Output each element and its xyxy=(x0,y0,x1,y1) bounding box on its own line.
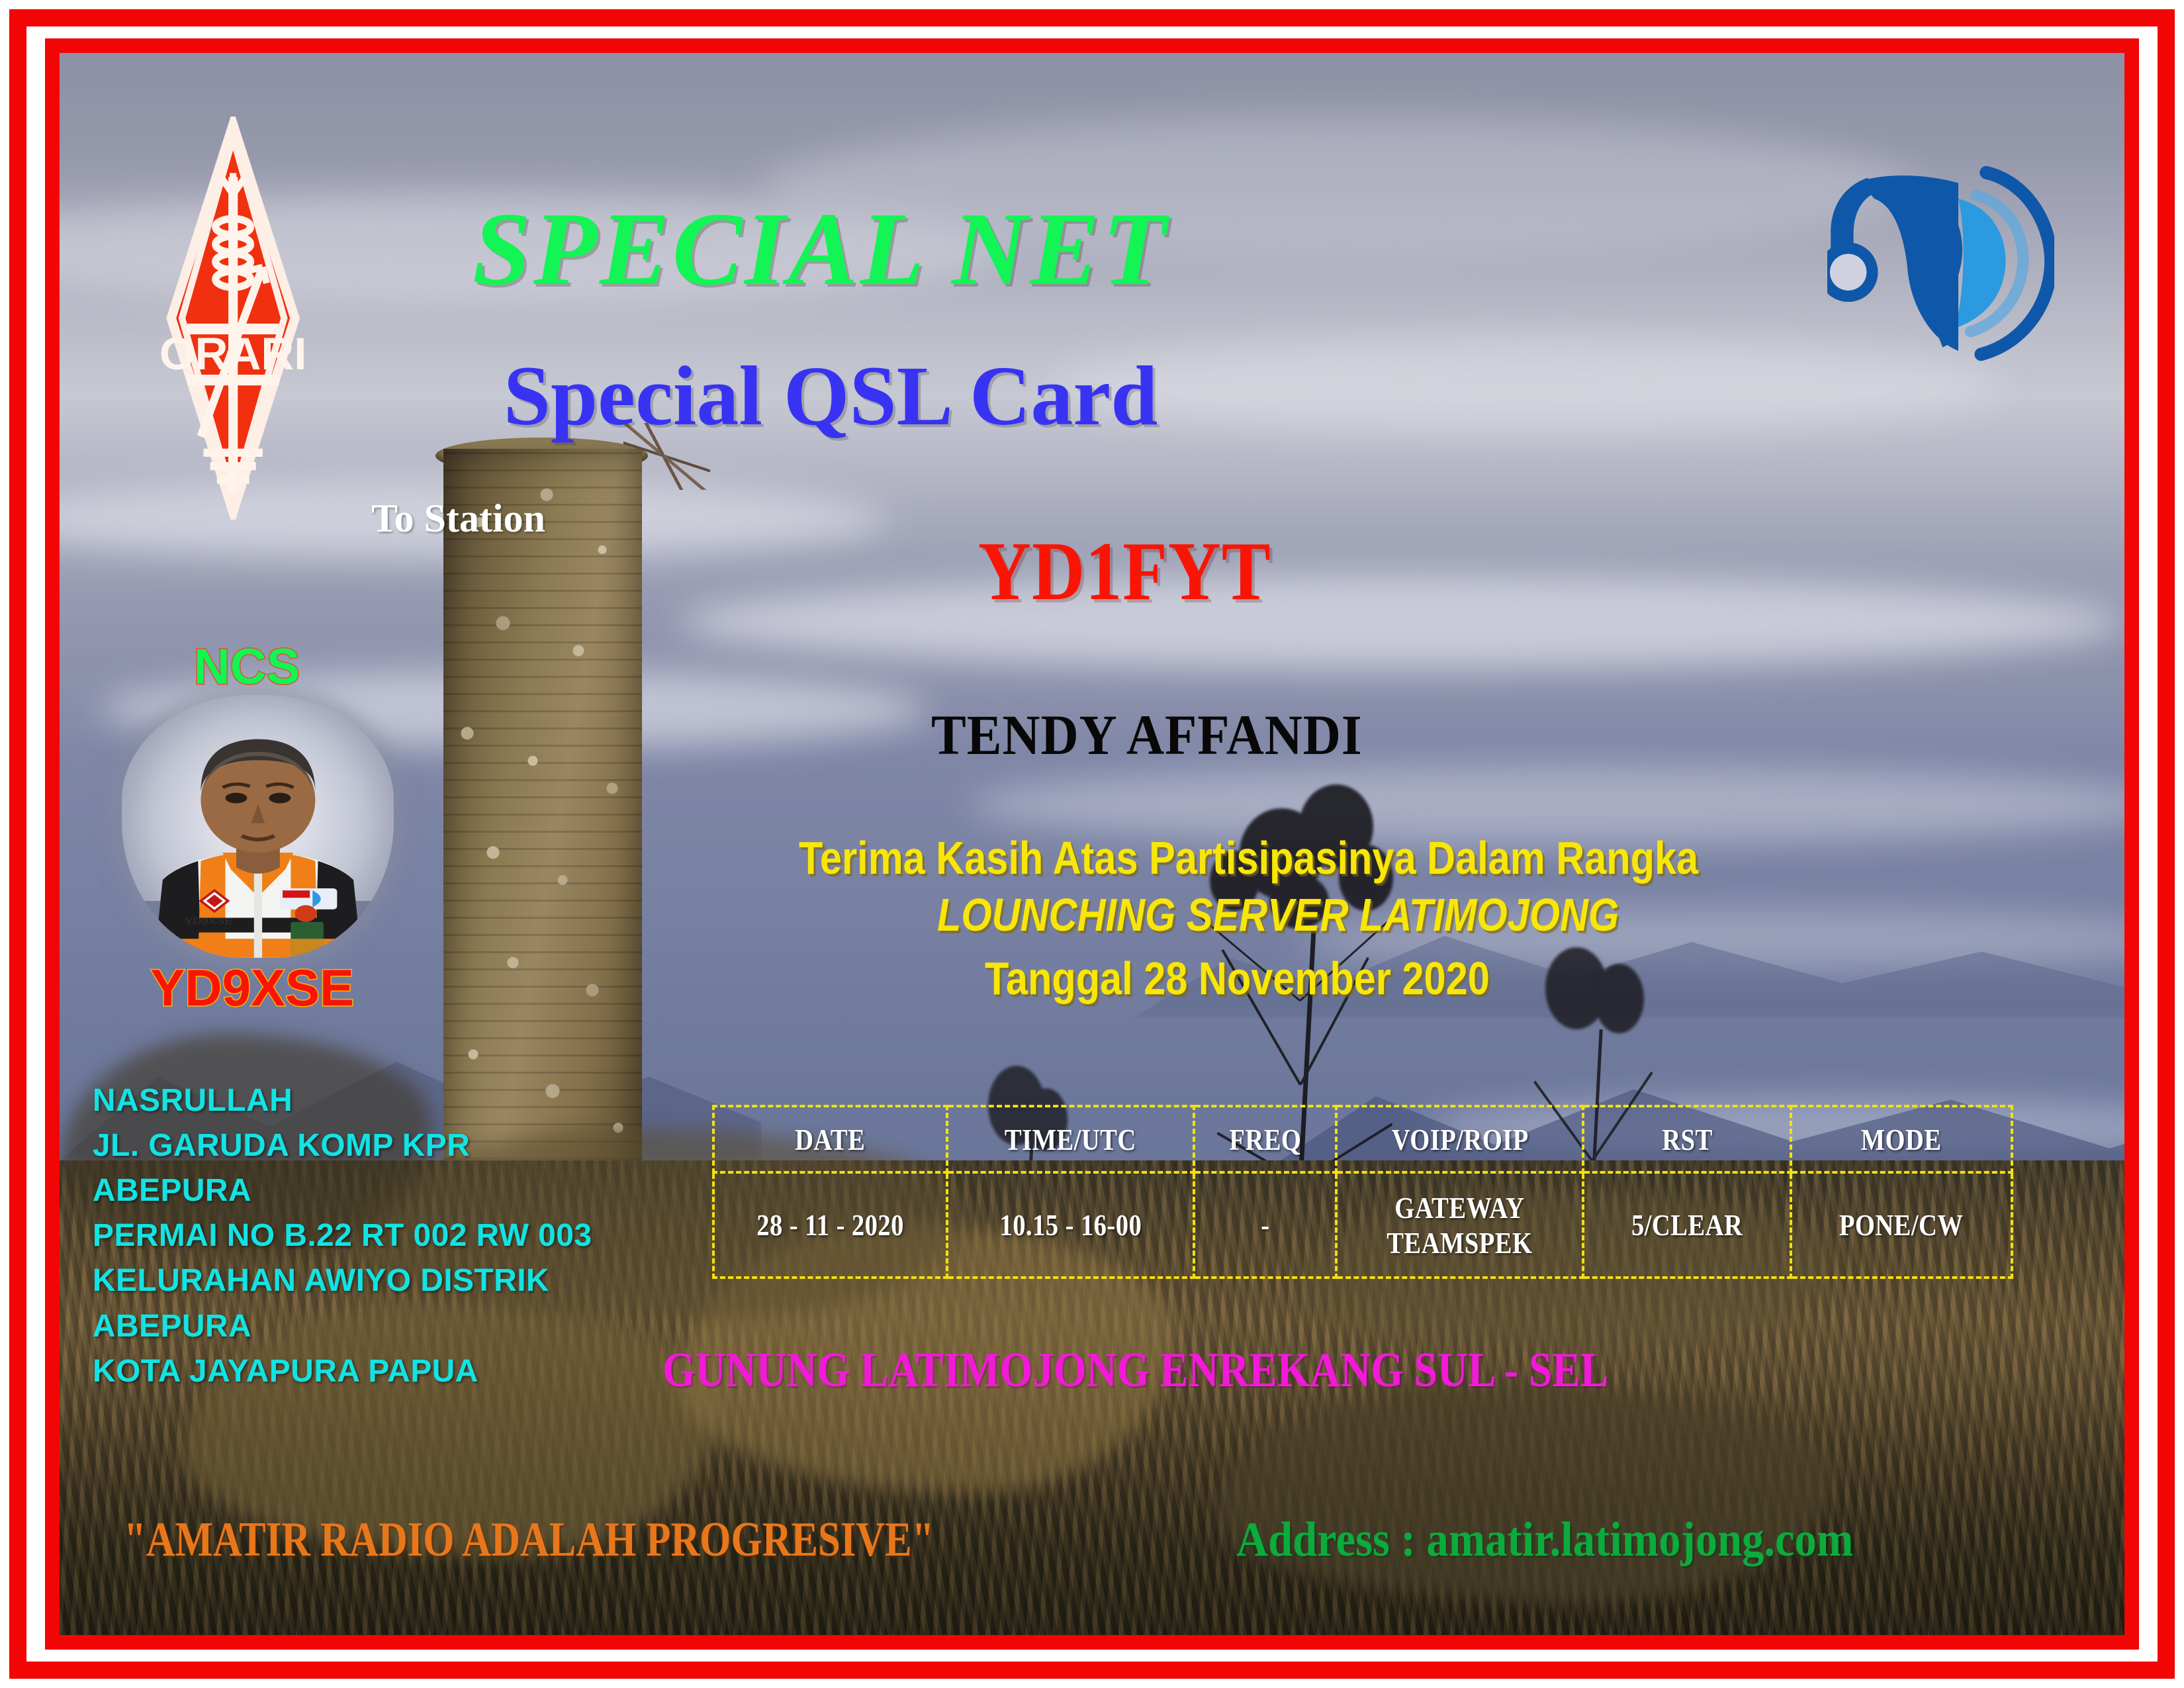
thanks-line-3-date: Tanggal 28 November 2020 xyxy=(985,952,1490,1005)
subtitle-special-qsl-card: Special QSL Card xyxy=(504,348,1158,445)
svg-text:YD9XSE: YD9XSE xyxy=(184,915,232,926)
ncs-label: NCS xyxy=(194,638,300,696)
table-cell-mode: PONE/CW xyxy=(1791,1172,2012,1278)
motto-line: "AMATIR RADIO ADALAH PROGRESIVE" xyxy=(124,1512,934,1568)
table-cell-voip-roip: GATEWAY TEAMSPEK xyxy=(1336,1172,1583,1278)
address-line: ABEPURA xyxy=(93,1168,592,1213)
table-header-date: DATE xyxy=(713,1106,947,1172)
table-cell-rst: 5/CLEAR xyxy=(1583,1172,1791,1278)
table-header-row: DATE TIME/UTC FREQ VOIP/ROIP RST MODE xyxy=(713,1106,2012,1172)
table-header-voip-roip: VOIP/ROIP xyxy=(1336,1106,1583,1172)
recipient-callsign: YD1FYT xyxy=(978,524,1271,620)
orari-logo: ORARI xyxy=(144,117,322,520)
ncs-address-block: NASRULLAH JL. GARUDA KOMP KPR ABEPURA PE… xyxy=(93,1078,592,1394)
thanks-line-2-event: LOUNCHING SERVER LATIMOJONG xyxy=(937,888,1619,941)
table-header-freq: FREQ xyxy=(1194,1106,1337,1172)
background-photograph: ORARI xyxy=(60,53,2124,1635)
address-line: JL. GARUDA KOMP KPR xyxy=(93,1123,592,1168)
address-line: ABEPURA xyxy=(93,1304,592,1349)
table-row: 28 - 11 - 2020 10.15 - 16-00 - GATEWAY T… xyxy=(713,1172,2012,1278)
web-address-line: Address : amatir.latimojong.com xyxy=(1236,1512,1853,1568)
table-header-time: TIME/UTC xyxy=(947,1106,1194,1172)
location-line: GUNUNG LATIMOJONG ENREKANG SUL - SEL xyxy=(662,1342,1608,1399)
address-line: PERMAI NO B.22 RT 002 RW 003 xyxy=(93,1213,592,1258)
table-header-rst: RST xyxy=(1583,1106,1791,1172)
table-cell-date: 28 - 11 - 2020 xyxy=(713,1172,947,1278)
address-line: KOTA JAYAPURA PAPUA xyxy=(93,1349,592,1394)
to-station-label: To Station xyxy=(371,496,545,541)
table-cell-time: 10.15 - 16-00 xyxy=(947,1172,1194,1278)
title-special-net: SPECIAL NET xyxy=(473,189,1169,310)
radio-headset-profile-icon xyxy=(1827,107,2054,415)
table-header-mode: MODE xyxy=(1791,1106,2012,1172)
qsl-card: ORARI xyxy=(0,0,2184,1688)
table-cell-freq: - xyxy=(1194,1172,1337,1278)
address-line: NASRULLAH xyxy=(93,1078,592,1123)
thanks-line-1: Terima Kasih Atas Partisipasinya Dalam R… xyxy=(799,831,1698,884)
cloud-band xyxy=(679,575,2124,670)
orari-logo-text: ORARI xyxy=(159,328,306,379)
address-line: KELURAHAN AWIYO DISTRIK xyxy=(93,1258,592,1303)
ncs-callsign: YD9XSE xyxy=(150,958,354,1018)
qso-log-table: DATE TIME/UTC FREQ VOIP/ROIP RST MODE 28… xyxy=(712,1105,2013,1279)
grass-patch xyxy=(1216,1382,1835,1604)
operator-name: TENDY AFFANDI xyxy=(931,702,1363,768)
ncs-operator-photo: YD9XSE xyxy=(122,695,394,958)
